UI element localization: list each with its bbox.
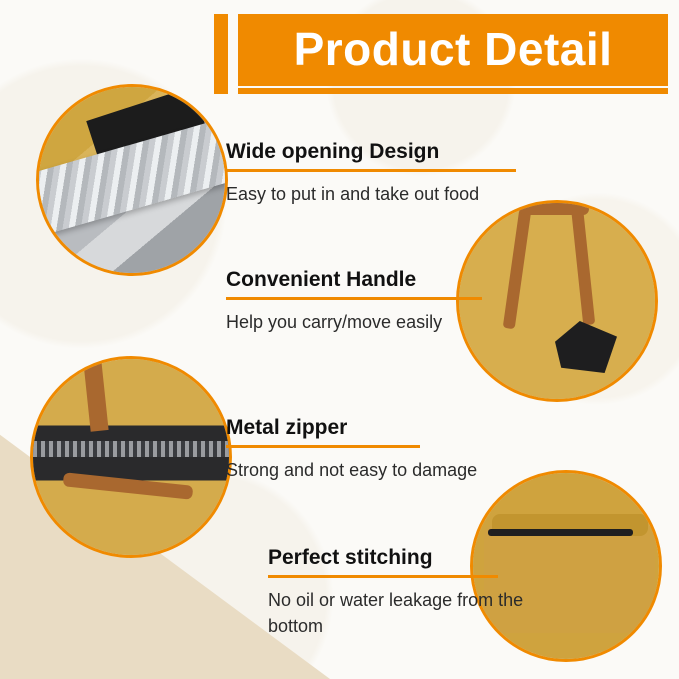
feature-heading: Wide opening Design — [226, 140, 526, 164]
feature-convenient-handle: Convenient Handle Help you carry/move ea… — [226, 268, 506, 335]
feature-description: Easy to put in and take out food — [226, 181, 526, 207]
feature-underline — [226, 297, 482, 300]
feature-heading: Metal zipper — [226, 416, 526, 440]
title-accent-block — [214, 14, 228, 94]
photo-wide-opening-design — [36, 84, 228, 276]
handle-loop — [519, 203, 589, 215]
feature-description: No oil or water leakage from the bottom — [268, 587, 558, 639]
feature-description: Help you carry/move easily — [226, 309, 506, 335]
zipper-image — [33, 359, 229, 555]
strap-vertical — [83, 360, 108, 431]
page-title: Product Detail — [238, 14, 668, 86]
feature-underline — [268, 575, 498, 578]
printed-graphic — [555, 321, 617, 373]
zipper-teeth — [33, 441, 229, 457]
title-underline — [238, 88, 668, 94]
feature-underline — [226, 445, 420, 448]
feature-perfect-stitching: Perfect stitching No oil or water leakag… — [268, 546, 558, 639]
feature-underline — [226, 169, 516, 172]
bag-zipper-line — [488, 529, 633, 536]
foil-liner-image — [39, 87, 225, 273]
feature-wide-opening-design: Wide opening Design Easy to put in and t… — [226, 140, 526, 207]
handle-strap — [63, 472, 194, 500]
feature-heading: Convenient Handle — [226, 268, 506, 292]
feature-metal-zipper: Metal zipper Strong and not easy to dama… — [226, 416, 526, 483]
photo-metal-zipper — [30, 356, 232, 558]
feature-description: Strong and not easy to damage — [226, 457, 526, 483]
feature-heading: Perfect stitching — [268, 546, 558, 570]
handle-strap-left — [503, 209, 532, 330]
handle-strap-right — [571, 205, 595, 326]
product-detail-infographic: Product Detail — [0, 0, 679, 679]
